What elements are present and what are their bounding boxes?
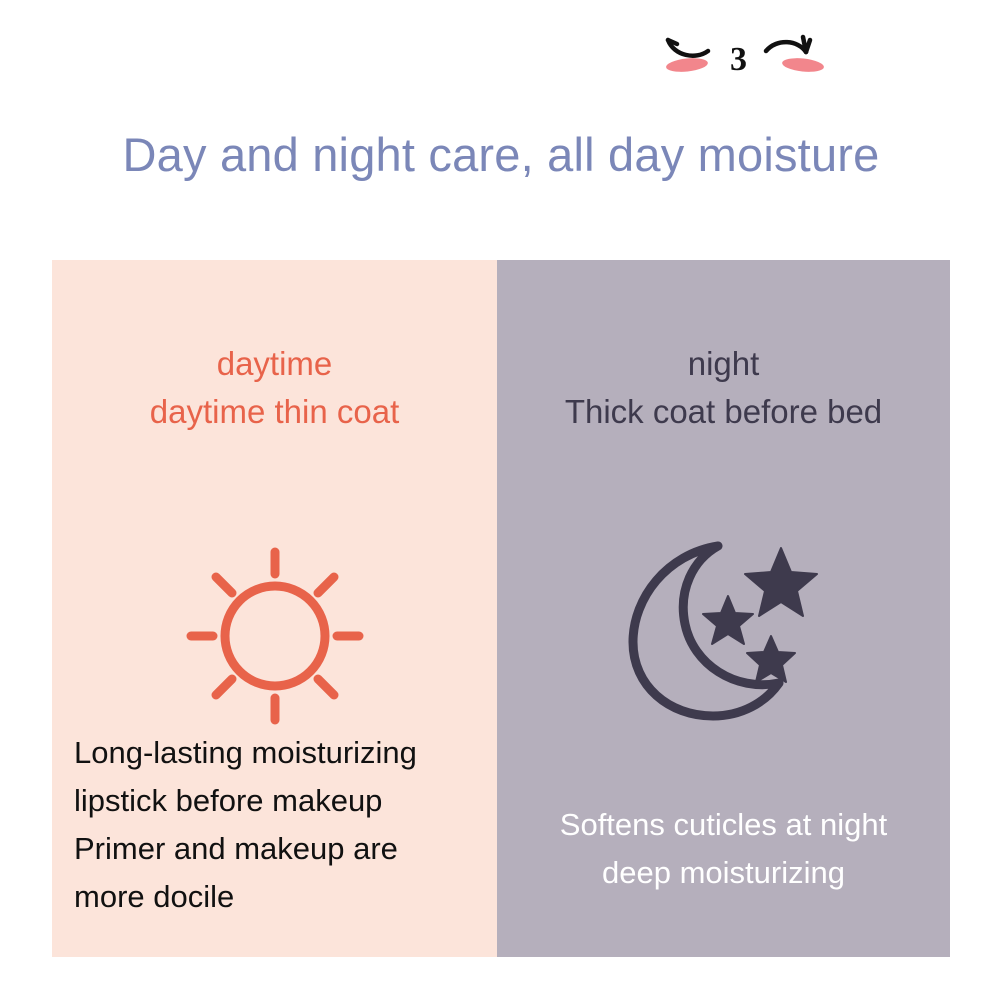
night-panel-header: night Thick coat before bed [497, 260, 950, 436]
day-body-line: lipstick before makeup [74, 777, 479, 825]
sun-icon-svg [175, 536, 375, 736]
star-large-icon [745, 548, 817, 616]
comparison-panels: daytime daytime thin coat [52, 260, 950, 957]
night-heading-secondary: Thick coat before bed [497, 388, 950, 436]
kaomoji-svg: 3 [660, 18, 830, 84]
sun-ray-se [318, 679, 334, 695]
night-body-line: Softens cuticles at night [511, 801, 936, 849]
night-heading-primary: night [497, 340, 950, 388]
sun-icon [175, 536, 375, 741]
kaomoji-face-decoration: 3 [660, 18, 830, 84]
sun-ray-sw [216, 679, 232, 695]
day-panel-header: daytime daytime thin coat [52, 260, 497, 436]
day-body-line: more docile [74, 873, 479, 921]
mouth-icon: 3 [730, 41, 747, 78]
day-care-panel: daytime daytime thin coat [52, 260, 497, 957]
star-medium-icon [703, 596, 753, 644]
night-panel-body: Softens cuticles at night deep moisturiz… [497, 801, 950, 957]
day-heading-primary: daytime [52, 340, 497, 388]
night-body-line: deep moisturizing [511, 849, 936, 897]
left-blush-icon [665, 56, 708, 73]
right-eye-lash2-icon [806, 40, 810, 52]
day-heading-secondary: daytime thin coat [52, 388, 497, 436]
sun-ray-nw [216, 577, 232, 593]
sun-disc-icon [225, 586, 325, 686]
right-eye-icon [766, 42, 806, 52]
right-blush-icon [781, 56, 824, 73]
page-title: Day and night care, all day moisture [0, 124, 1002, 186]
moon-stars-icon [615, 534, 825, 729]
day-body-line: Primer and makeup are [74, 825, 479, 873]
day-panel-body: Long-lasting moisturizing lipstick befor… [52, 729, 497, 957]
night-icon-area [497, 436, 950, 801]
sun-ray-ne [318, 577, 334, 593]
day-icon-area [52, 436, 497, 729]
crescent-moon-icon [633, 546, 779, 716]
moon-stars-icon-svg [615, 534, 825, 724]
night-care-panel: night Thick coat before bed Softens cuti… [497, 260, 950, 957]
star-small-icon [747, 636, 795, 682]
